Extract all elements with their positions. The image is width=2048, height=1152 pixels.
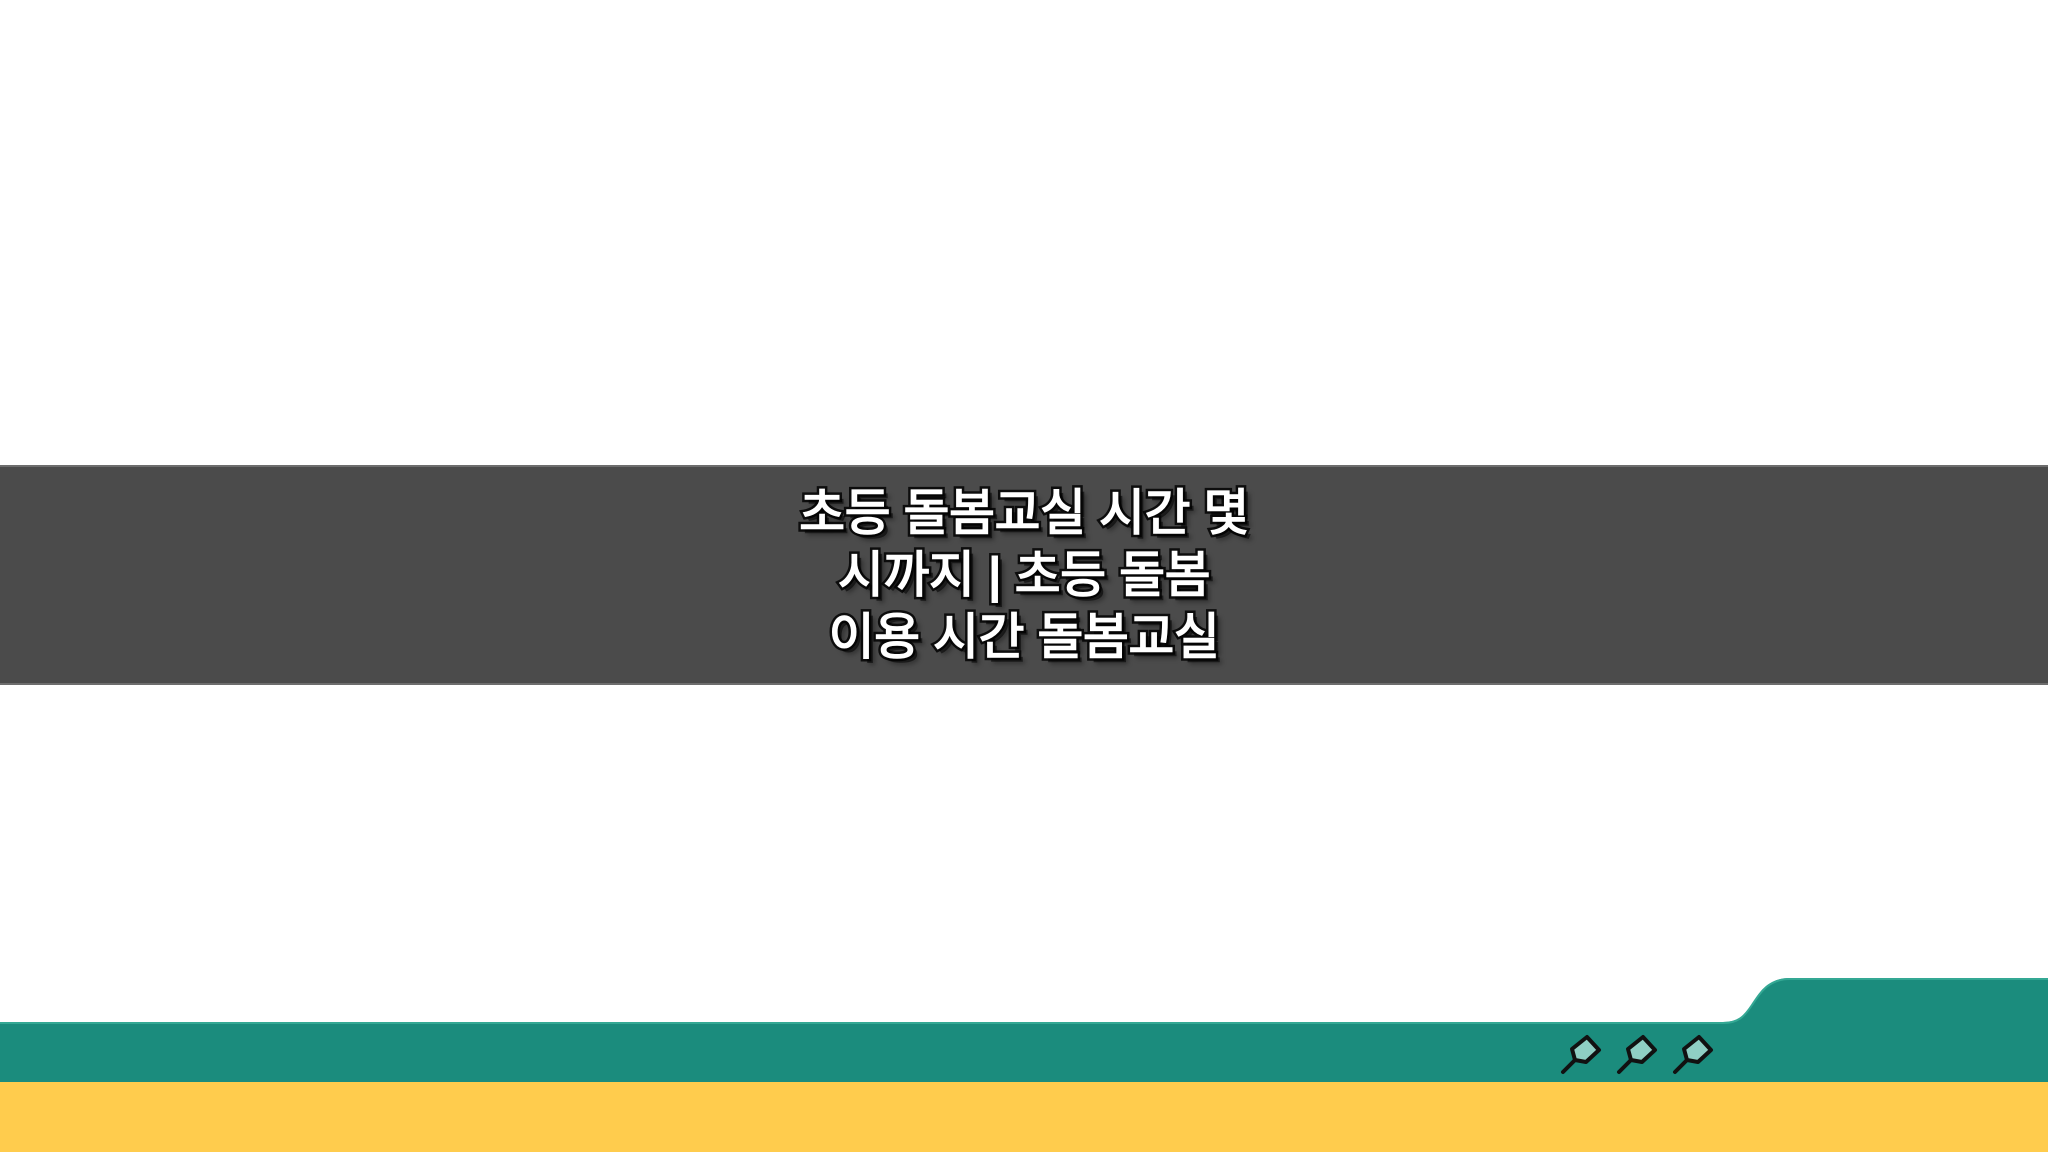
title-band: 초등 돌봄교실 시간 몇 시까지 | 초등 돌봄 이용 시간 돌봄교실 xyxy=(0,465,2048,685)
page-title: 초등 돌봄교실 시간 몇 시까지 | 초등 돌봄 이용 시간 돌봄교실 xyxy=(799,482,1249,668)
teal-band-highlight xyxy=(0,979,2048,1023)
pushpin-icon-2 xyxy=(1614,1029,1662,1077)
thumbnail-canvas: 초등 돌봄교실 시간 몇 시까지 | 초등 돌봄 이용 시간 돌봄교실 xyxy=(0,0,2048,1152)
bottom-bands-svg xyxy=(0,960,2048,1152)
pushpin-icon-row xyxy=(1558,1024,1728,1082)
pushpin-icon-1 xyxy=(1558,1029,1606,1077)
bottom-decoration-bands xyxy=(0,960,2048,1152)
pushpin-icon-3 xyxy=(1670,1029,1718,1077)
teal-band-shape xyxy=(0,978,2048,1082)
yellow-band-shape xyxy=(0,1082,2048,1152)
